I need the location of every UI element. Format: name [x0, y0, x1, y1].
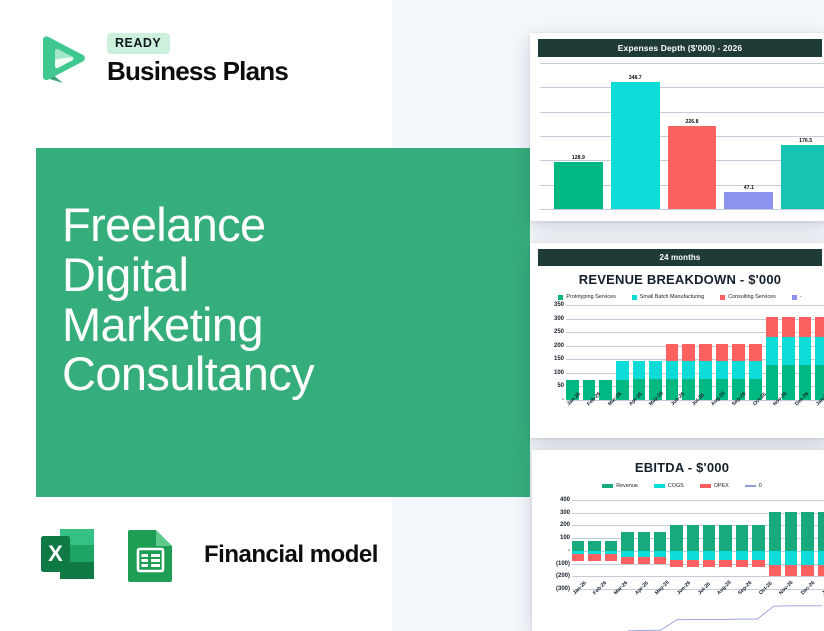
chart-card-ebitda[interactable]: EBITDA - $'000 RevenueCOGSOPEX0 40030020…: [532, 450, 824, 631]
bar-segment: [766, 317, 779, 337]
bar-segment: [732, 361, 745, 380]
bar-segment: [749, 344, 762, 360]
x-axis-revenue: Jan-26Feb-26Mar-26Apr-26May-26Jun-26Jul-…: [566, 400, 824, 438]
bar-segment: [682, 344, 695, 360]
bar-column: [766, 305, 779, 400]
bar-segment: [666, 344, 679, 360]
bar-segment: [649, 361, 662, 380]
revenue-plot-inner: [566, 305, 824, 400]
bar: [611, 82, 660, 209]
bar-value-label: 348.7: [611, 75, 660, 81]
legend-label: OPEX: [714, 483, 729, 489]
legend-swatch: [720, 295, 725, 300]
footer-label: Financial model: [204, 541, 378, 569]
bar-segment: [799, 317, 812, 337]
y-tick-label: -: [562, 397, 564, 403]
y-tick-label: 200: [554, 343, 564, 349]
bar-column: [732, 305, 745, 400]
chart-card-revenue-breakdown[interactable]: 24 months REVENUE BREAKDOWN - $'000 Prot…: [530, 243, 824, 438]
y-tick-label: 100: [560, 535, 570, 541]
footer-row: X Financial model: [38, 523, 378, 587]
y-tick-label: 250: [554, 329, 564, 335]
bar-segment: [666, 361, 679, 380]
bar-segment: [815, 317, 824, 337]
revenue-bar-series: [566, 305, 824, 400]
y-axis-ebitda: 400300200100-(100)(200)(300): [538, 500, 570, 589]
bar-column: [566, 305, 579, 400]
legend-label: Small Batch Manufacturing: [640, 294, 704, 300]
legend-label: Consulting Services: [728, 294, 776, 300]
ebitda-plot-area: 400300200100-(100)(200)(300) Jan-26Feb-2…: [532, 500, 824, 631]
bar-column: [749, 305, 762, 400]
bar-column: [716, 305, 729, 400]
bar-column: [699, 305, 712, 400]
bar-column: [815, 305, 824, 400]
legend-swatch: [745, 485, 756, 487]
bar-segment: [716, 361, 729, 380]
bar-segment: [766, 337, 779, 365]
bar-segment: [782, 337, 795, 365]
legend-swatch: [558, 295, 563, 300]
brand-text: READY Business Plans: [107, 33, 288, 85]
x-axis-ebitda: Jan-26Feb-26Mar-26Apr-26May-26Jun-26Jul-…: [572, 589, 824, 631]
bar-column: [633, 305, 646, 400]
ready-badge: READY: [107, 33, 170, 53]
bar-segment: [616, 361, 629, 380]
bar-column: 176.5: [781, 63, 824, 209]
y-tick-label: 350: [554, 302, 564, 308]
google-sheets-icon: [119, 523, 183, 587]
microsoft-excel-icon: X: [38, 523, 102, 587]
legend-swatch: [700, 484, 711, 488]
bar-segment: [716, 344, 729, 360]
y-tick-label: 300: [554, 316, 564, 322]
ebitda-plot-inner: [572, 500, 824, 589]
chart-header-expenses: Expenses Depth ($'000) - 2026: [538, 39, 822, 57]
legend-item: 0: [745, 483, 762, 489]
legend-swatch: [654, 484, 665, 488]
y-axis-revenue: 35030025020015010050-: [538, 305, 564, 400]
y-tick-label: (300): [556, 586, 570, 592]
play-triangle-logo-icon: [33, 28, 95, 90]
brand-lockup: READY Business Plans: [33, 28, 288, 90]
chart-title-ebitda: EBITDA - $'000: [532, 460, 824, 475]
y-tick-label: 100: [554, 370, 564, 376]
bar-segment: [749, 361, 762, 380]
bar-column: [799, 305, 812, 400]
legend-label: Prototyping Services: [566, 294, 615, 300]
bar-segment: [633, 361, 646, 380]
bar: [668, 126, 717, 209]
legend-item: Small Batch Manufacturing: [632, 294, 704, 300]
slide-canvas: READY Business Plans Freelance Digital M…: [0, 0, 824, 631]
y-tick-label: 300: [560, 510, 570, 516]
legend-label: -: [800, 294, 802, 300]
y-tick-label: 200: [560, 522, 570, 528]
legend-label: COGS: [668, 483, 684, 489]
legend-swatch: [602, 484, 613, 488]
chart-card-expenses-depth[interactable]: Expenses Depth ($'000) - 2026 128.9348.7…: [530, 33, 824, 221]
bar-segment: [699, 361, 712, 380]
bar-value-label: 226.8: [668, 119, 717, 125]
y-tick-label: 150: [554, 356, 564, 362]
bar-column: 226.8: [668, 63, 717, 209]
bar-column: [666, 305, 679, 400]
chart-title-revenue: REVENUE BREAKDOWN - $'000: [530, 272, 824, 287]
bar-column: 47.1: [724, 63, 773, 209]
bar-value-label: 47.1: [724, 185, 773, 191]
bar: [781, 145, 824, 209]
legend-item: Revenue: [602, 483, 638, 489]
bar: [554, 162, 603, 209]
hero-panel: Freelance Digital Marketing Consultancy: [36, 148, 530, 497]
y-tick-label: (100): [556, 561, 570, 567]
bar-column: [599, 305, 612, 400]
legend-item: Consulting Services: [720, 294, 776, 300]
expenses-plot-area: 128.9348.7226.847.1176.5: [540, 63, 824, 209]
bar-column: [782, 305, 795, 400]
bar-column: [616, 305, 629, 400]
bar-column: [682, 305, 695, 400]
bar-column: [649, 305, 662, 400]
bar: [724, 192, 773, 209]
svg-text:X: X: [48, 541, 63, 566]
bar-column: 128.9: [554, 63, 603, 209]
page-title: Freelance Digital Marketing Consultancy: [62, 200, 512, 399]
legend-item: COGS: [654, 483, 684, 489]
bar-segment: [699, 344, 712, 360]
y-tick-label: 50: [557, 383, 564, 389]
legend-item: OPEX: [700, 483, 729, 489]
bar-segment: [799, 337, 812, 365]
legend-swatch: [632, 295, 637, 300]
bar-column: [583, 305, 596, 400]
bar-value-label: 128.9: [554, 155, 603, 161]
bar-column: 348.7: [611, 63, 660, 209]
brand-name: Business Plans: [107, 58, 288, 85]
legend-label: Revenue: [616, 483, 638, 489]
y-tick-label: (200): [556, 573, 570, 579]
y-tick-label: -: [568, 548, 570, 554]
bar-segment: [782, 317, 795, 337]
legend-swatch: [792, 295, 797, 300]
legend-label: 0: [759, 483, 762, 489]
chart-legend-revenue: Prototyping ServicesSmall Batch Manufact…: [530, 294, 824, 300]
chart-header-24-months: 24 months: [538, 249, 822, 266]
bar-segment: [682, 361, 695, 380]
chart-legend-ebitda: RevenueCOGSOPEX0: [532, 483, 824, 489]
revenue-plot-area: 35030025020015010050- Jan-26Feb-26Mar-26…: [530, 305, 824, 438]
bar-segment: [815, 337, 824, 365]
bar-value-label: 176.5: [781, 138, 824, 144]
expenses-bar-series: 128.9348.7226.847.1176.5: [554, 63, 824, 209]
legend-item: Prototyping Services: [558, 294, 615, 300]
y-tick-label: 400: [560, 497, 570, 503]
legend-item: -: [792, 294, 802, 300]
bar-segment: [732, 344, 745, 360]
